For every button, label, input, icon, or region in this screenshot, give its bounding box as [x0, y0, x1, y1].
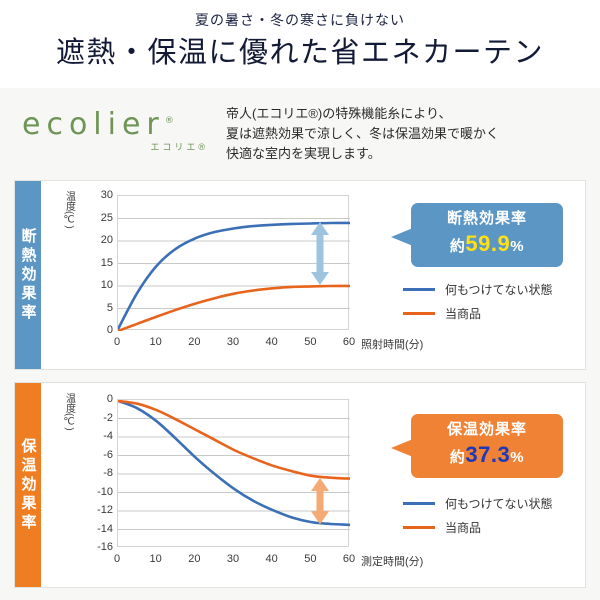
brand-row: ecolier® エコリエ® 帝人(エコリエ®)の特殊機能糸により、 夏は遮熱効…	[14, 96, 586, 174]
page-title: 遮熱・保温に優れた省エネカーテン	[0, 37, 600, 70]
legend-swatch-blue	[403, 288, 435, 291]
y-tick--4: -4	[103, 430, 113, 442]
panel-retention-effect: 保温効果率 温度(℃) 0-2-4-6-8-10-12-14-16 010203…	[14, 382, 586, 588]
x-tick-40: 40	[266, 336, 278, 348]
x-tick-40: 40	[266, 553, 278, 565]
logo-kana-registered-mark: ®	[198, 142, 208, 152]
x-tick-10: 10	[150, 553, 162, 565]
logo-wordmark: ecolier®	[22, 110, 226, 140]
y-tick-15: 15	[101, 257, 113, 269]
x-tick-50: 50	[304, 553, 316, 565]
chart1-y-axis-title: 温度(℃)	[63, 191, 74, 229]
callout-retention-value: 約37.3%	[425, 441, 549, 470]
callout-insulation-unit: %	[510, 238, 524, 255]
callout-retention-tail	[391, 439, 413, 457]
logo-kana-subtitle: エコリエ®	[150, 140, 208, 153]
legend-swatch-orange	[403, 312, 435, 315]
x-tick-50: 50	[304, 336, 316, 348]
y-tick-20: 20	[101, 234, 113, 246]
chart1-x-axis-title: 照射時間(分)	[361, 336, 423, 352]
callout-retention-effect: 保温効果率 約37.3%	[411, 414, 563, 478]
y-tick--8: -8	[103, 467, 113, 479]
legend-item-product: 当商品	[403, 305, 553, 322]
chart1-y-tick-labels: 051015202530	[81, 195, 113, 330]
legend-item-no-curtain: 何もつけてない状態	[403, 281, 553, 298]
x-tick-60: 60	[343, 553, 355, 565]
panel-insulation-effect: 断熱効果率 温度(℃) 051015202530 0102030405060 照…	[14, 180, 586, 370]
callout-retention-unit: %	[510, 449, 524, 466]
brand-description: 帝人(エコリエ®)の特殊機能糸により、 夏は遮熱効果で涼しく、冬は保温効果で暖か…	[226, 96, 586, 164]
legend-label-product: 当商品	[445, 305, 481, 322]
legend-label-no-curtain-2: 何もつけてない状態	[445, 495, 553, 512]
legend-swatch-blue-2	[403, 502, 435, 505]
y-tick-30: 30	[101, 189, 113, 201]
chart1-difference-arrow	[307, 222, 333, 285]
description-line-1: 帝人(エコリエ®)の特殊機能糸により、	[226, 104, 586, 124]
tab-retention-effect: 保温効果率	[15, 383, 41, 587]
x-tick-30: 30	[227, 336, 239, 348]
logo-text: ecolier	[22, 107, 165, 142]
y-tick--2: -2	[103, 412, 113, 424]
callout-retention-title: 保温効果率	[425, 421, 549, 440]
chart2-y-tick-labels: 0-2-4-6-8-10-12-14-16	[81, 399, 113, 547]
y-tick-0: 0	[107, 324, 113, 336]
callout-insulation-tail	[391, 228, 413, 246]
y-tick-10: 10	[101, 279, 113, 291]
chart2-difference-arrow	[307, 478, 333, 524]
y-tick-25: 25	[101, 212, 113, 224]
description-line-2: 夏は遮熱効果で涼しく、冬は保温効果で暖かく	[226, 124, 586, 144]
y-tick--6: -6	[103, 449, 113, 461]
y-tick--16: -16	[97, 541, 113, 553]
tab-insulation-label: 断熱効果率	[21, 228, 36, 323]
y-tick-0: 0	[107, 393, 113, 405]
callout-insulation-effect: 断熱効果率 約59.9%	[411, 203, 563, 267]
tab-insulation-effect: 断熱効果率	[15, 181, 41, 369]
callout-insulation-title: 断熱効果率	[425, 210, 549, 229]
ecolier-logo: ecolier® エコリエ®	[14, 96, 226, 140]
callout-insulation-number: 59.9	[465, 231, 510, 256]
description-line-3: 快適な室内を実現します。	[226, 144, 586, 164]
callout-insulation-prefix: 約	[450, 238, 466, 255]
x-tick-0: 0	[114, 553, 120, 565]
x-tick-60: 60	[343, 336, 355, 348]
legend-retention: 何もつけてない状態 当商品	[403, 495, 553, 543]
x-tick-20: 20	[188, 336, 200, 348]
x-tick-0: 0	[114, 336, 120, 348]
x-tick-20: 20	[188, 553, 200, 565]
y-tick-5: 5	[107, 302, 113, 314]
y-tick--12: -12	[97, 504, 113, 516]
header-subtitle: 夏の暑さ・冬の寒さに負けない	[0, 14, 600, 31]
chart2-y-axis-title: 温度(℃)	[63, 393, 74, 431]
tab-retention-label: 保温効果率	[21, 438, 36, 533]
chart2-x-axis-title: 測定時間(分)	[361, 553, 423, 569]
x-tick-30: 30	[227, 553, 239, 565]
legend-label-product-2: 当商品	[445, 519, 481, 536]
chart2-plot-area	[117, 399, 349, 547]
callout-retention-prefix: 約	[450, 449, 466, 466]
legend-insulation: 何もつけてない状態 当商品	[403, 281, 553, 329]
legend-item-product-2: 当商品	[403, 519, 553, 536]
legend-item-no-curtain-2: 何もつけてない状態	[403, 495, 553, 512]
logo-registered-mark: ®	[165, 116, 174, 126]
callout-retention-number: 37.3	[465, 442, 510, 467]
y-tick--14: -14	[97, 523, 113, 535]
chart2-series-svg	[118, 400, 350, 548]
legend-swatch-orange-2	[403, 526, 435, 529]
page-header: 夏の暑さ・冬の寒さに負けない 遮熱・保温に優れた省エネカーテン	[0, 0, 600, 70]
callout-insulation-value: 約59.9%	[425, 230, 549, 259]
content-area: ecolier® エコリエ® 帝人(エコリエ®)の特殊機能糸により、 夏は遮熱効…	[0, 88, 600, 600]
logo-kana-text: エコリエ	[150, 142, 198, 152]
legend-label-no-curtain: 何もつけてない状態	[445, 281, 553, 298]
y-tick--10: -10	[97, 486, 113, 498]
x-tick-10: 10	[150, 336, 162, 348]
